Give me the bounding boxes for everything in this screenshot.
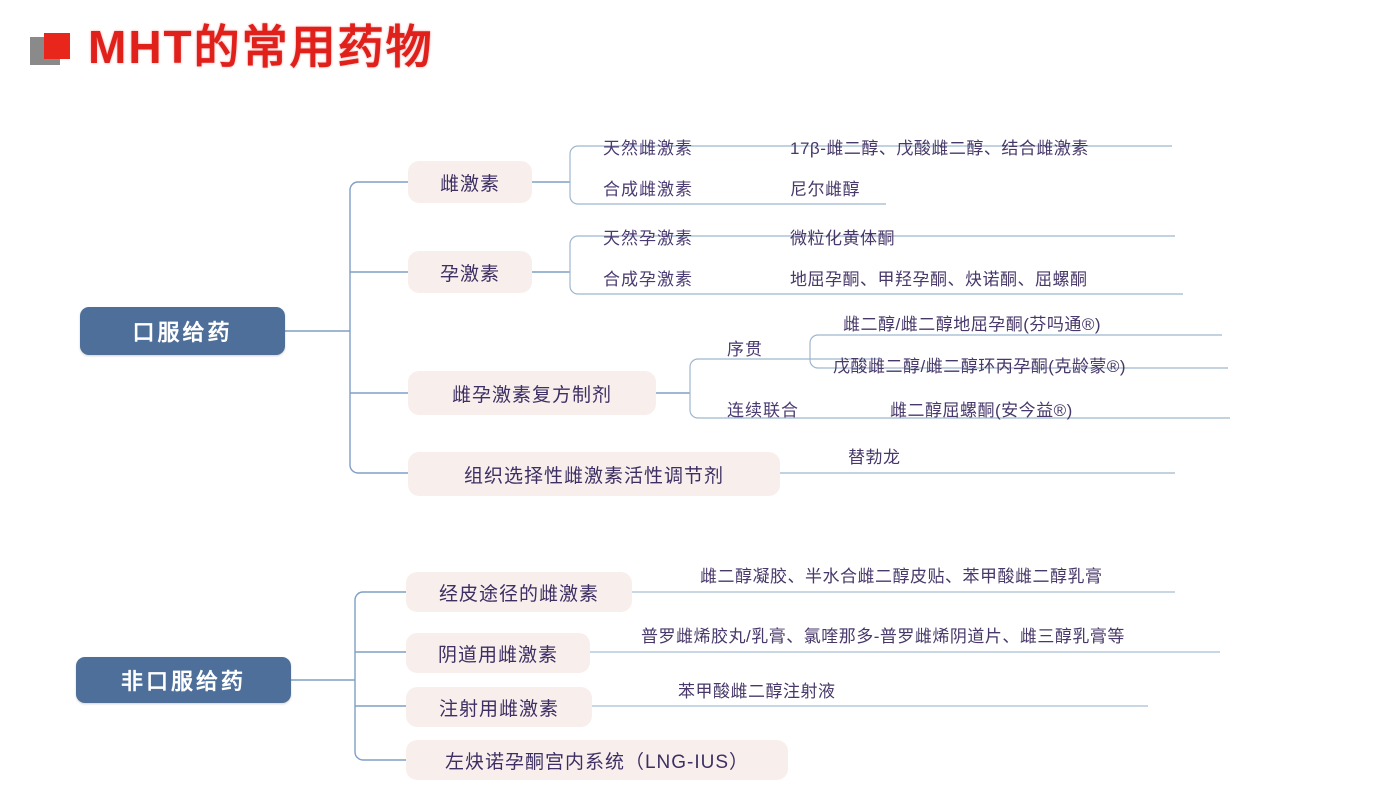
leaf-tibolone: 替勃龙	[848, 443, 901, 468]
branch-transdermal-estrogen-label: 经皮途径的雌激素	[439, 579, 599, 606]
sub-natural-progestogen: 天然孕激素	[603, 224, 693, 249]
sub-synthetic-progestogen: 合成孕激素	[603, 265, 693, 290]
leaf-synthetic-progestogen: 地屈孕酮、甲羟孕酮、炔诺酮、屈螺酮	[790, 265, 1088, 290]
branch-injectable-estrogen[interactable]: 注射用雌激素	[406, 687, 592, 727]
branch-progestogen-label: 孕激素	[440, 259, 500, 286]
leaf-sequential-2: 戊酸雌二醇/雌二醇环丙孕酮(克龄蒙®)	[833, 352, 1126, 377]
branch-combined-preparation-label: 雌孕激素复方制剂	[452, 380, 612, 407]
sub-synthetic-estrogen: 合成雌激素	[603, 175, 693, 200]
leaf-continuous-combined: 雌二醇屈螺酮(安今益®)	[890, 396, 1073, 421]
sub-continuous-combined: 连续联合	[727, 396, 799, 421]
root-node-oral-label: 口服给药	[132, 315, 232, 347]
branch-combined-preparation[interactable]: 雌孕激素复方制剂	[408, 371, 656, 415]
branch-serm-label: 组织选择性雌激素活性调节剂	[464, 461, 724, 488]
sub-natural-estrogen: 天然雌激素	[603, 134, 693, 159]
mindmap-canvas: MHT的常用药物 口服给药	[0, 0, 1384, 808]
root-node-oral[interactable]: 口服给药	[80, 307, 285, 355]
branch-progestogen[interactable]: 孕激素	[408, 251, 532, 293]
branch-estrogen[interactable]: 雌激素	[408, 161, 532, 203]
branch-injectable-estrogen-label: 注射用雌激素	[439, 694, 559, 721]
branch-estrogen-label: 雌激素	[440, 169, 500, 196]
branch-vaginal-estrogen-label: 阴道用雌激素	[438, 640, 558, 667]
leaf-injectable-estrogen: 苯甲酸雌二醇注射液	[678, 677, 836, 702]
sub-sequential: 序贯	[727, 335, 763, 360]
branch-transdermal-estrogen[interactable]: 经皮途径的雌激素	[406, 572, 632, 612]
leaf-vaginal-estrogen: 普罗雌烯胶丸/乳膏、氯喹那多-普罗雌烯阴道片、雌三醇乳膏等	[641, 622, 1125, 647]
branch-lng-ius-label: 左炔诺孕酮宫内系统（LNG-IUS）	[445, 747, 749, 774]
branch-vaginal-estrogen[interactable]: 阴道用雌激素	[406, 633, 590, 673]
leaf-natural-progestogen: 微粒化黄体酮	[790, 224, 895, 249]
branch-serm[interactable]: 组织选择性雌激素活性调节剂	[408, 452, 780, 496]
branch-lng-ius[interactable]: 左炔诺孕酮宫内系统（LNG-IUS）	[406, 740, 788, 780]
leaf-natural-estrogen: 17β-雌二醇、戊酸雌二醇、结合雌激素	[790, 134, 1089, 159]
leaf-synthetic-estrogen: 尼尔雌醇	[790, 175, 860, 200]
leaf-sequential-1: 雌二醇/雌二醇地屈孕酮(芬吗通®)	[843, 310, 1101, 335]
root-node-nonoral[interactable]: 非口服给药	[76, 657, 291, 703]
leaf-transdermal-estrogen: 雌二醇凝胶、半水合雌二醇皮贴、苯甲酸雌二醇乳膏	[700, 562, 1103, 587]
root-node-nonoral-label: 非口服给药	[121, 664, 246, 696]
